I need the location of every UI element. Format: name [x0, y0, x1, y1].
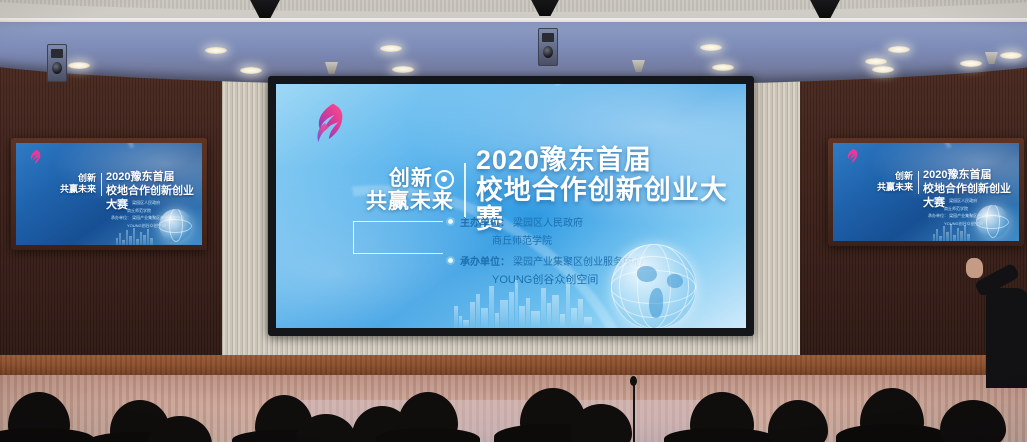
- right-org-line: 主办单位： 梁园区人民政府: [928, 197, 1001, 205]
- wireframe-globe-graphic: [976, 205, 1009, 238]
- flame-wing-logo: [28, 149, 41, 166]
- ceiling-downlight: [68, 62, 90, 69]
- ceiling-downlight: [205, 47, 227, 54]
- right-slogan-line-1: 创新: [861, 171, 913, 182]
- left-slogan-line-1: 创新: [44, 173, 96, 184]
- left-slogan-line-2: 共赢未来: [44, 184, 96, 195]
- microphone-head: [630, 376, 637, 386]
- ceiling-downlight: [1000, 52, 1022, 59]
- ceiling-downlight: [960, 60, 982, 67]
- auditorium-photo: 创新 共赢未来 2020豫东首届 校地合作创新创业大赛 主办: [0, 0, 1027, 442]
- photographer-body: [986, 288, 1027, 388]
- leader-line: [353, 221, 354, 254]
- ceiling-downlight: [240, 67, 262, 74]
- organizer-label: 主办单位：: [460, 214, 510, 229]
- organizer-label: 承办单位：: [460, 253, 510, 268]
- audience-shoulders: [376, 428, 480, 442]
- right-title-divider: [918, 171, 919, 194]
- ceiling-downlight: [380, 45, 402, 52]
- slogan-block: 创新 共赢未来: [340, 168, 454, 213]
- ceiling-downlight: [392, 66, 414, 73]
- wireframe-globe-graphic: [611, 244, 697, 328]
- globe-latitude: [976, 215, 1009, 229]
- bullet-icon: [448, 219, 453, 224]
- ceiling-downlight: [865, 58, 887, 65]
- stage-wood-band: [0, 355, 1027, 375]
- ceiling-downlight: [872, 66, 894, 73]
- right-title-line-1: 2020豫东首届: [923, 169, 1019, 183]
- title-line-1: 2020豫东首届: [476, 146, 746, 176]
- globe-continent: [649, 288, 663, 318]
- left-org-line: 主办单位： 梁园区人民政府: [111, 199, 184, 207]
- right-screen-slogan: 创新 共赢未来: [861, 171, 913, 194]
- slogan-line-2: 共赢未来: [340, 191, 454, 214]
- main-screen: 创新 共赢未来 2020豫东首届 校地合作创新创业大赛 主办: [276, 84, 746, 328]
- ceiling-camera-left: [47, 44, 67, 82]
- flame-wing-logo: [312, 102, 344, 144]
- right-screen: 创新 共赢未来 2020豫东首届 校地合作创新创业大赛 主办单位： 梁园区人民政…: [833, 143, 1019, 241]
- photographer-hand: [966, 258, 983, 278]
- left-title-divider: [101, 173, 102, 196]
- audience-shoulders: [664, 428, 776, 442]
- main-screen-bezel: 创新 共赢未来 2020豫东首届 校地合作创新创业大赛 主办: [268, 76, 754, 336]
- target-circle-icon: [435, 170, 454, 189]
- organizer-value: 梁园区人民政府: [513, 214, 583, 229]
- bullet-icon: [448, 258, 453, 263]
- leader-line: [353, 253, 443, 254]
- microphone-stand: [633, 382, 635, 442]
- wall-ribbed-right-column: [752, 52, 800, 352]
- slogan-line-1: 创新: [389, 168, 433, 191]
- ceiling-downlight: [712, 64, 734, 71]
- left-screen: 创新 共赢未来 2020豫东首届 校地合作创新创业大赛 主办单位： 梁园区人民政…: [16, 143, 202, 245]
- ceiling-camera-center: [538, 28, 558, 66]
- organizer-row: 承办单位： 梁园产业集聚区创业服务中心: [448, 253, 643, 268]
- audience-shoulders: [836, 424, 948, 442]
- right-screen-bezel: 创新 共赢未来 2020豫东首届 校地合作创新创业大赛 主办单位： 梁园区人民政…: [828, 138, 1024, 246]
- title-divider: [464, 163, 466, 219]
- globe-continent: [667, 274, 683, 288]
- left-title-line-1: 2020豫东首届: [106, 171, 202, 185]
- city-skyline-graphic: [454, 272, 634, 328]
- globe-latitude: [159, 219, 192, 233]
- left-screen-bezel: 创新 共赢未来 2020豫东首届 校地合作创新创业大赛 主办单位： 梁园区人民政…: [11, 138, 207, 250]
- wall-ribbed-left-column: [222, 52, 268, 352]
- flame-wing-logo: [845, 148, 858, 165]
- ceiling-downlight: [888, 46, 910, 53]
- left-screen-slogan: 创新 共赢未来: [44, 173, 96, 196]
- right-slogan-line-2: 共赢未来: [861, 182, 913, 193]
- ceiling-downlight: [700, 44, 722, 51]
- organizer-value: 商丘师范学院: [492, 232, 552, 247]
- globe-continent: [637, 266, 657, 282]
- slogan-line-1-row: 创新: [340, 168, 454, 191]
- leader-line: [353, 221, 443, 222]
- wireframe-globe-graphic: [159, 209, 192, 242]
- organizer-row: 商丘师范学院: [492, 232, 643, 247]
- organizer-row: 主办单位： 梁园区人民政府: [448, 214, 643, 229]
